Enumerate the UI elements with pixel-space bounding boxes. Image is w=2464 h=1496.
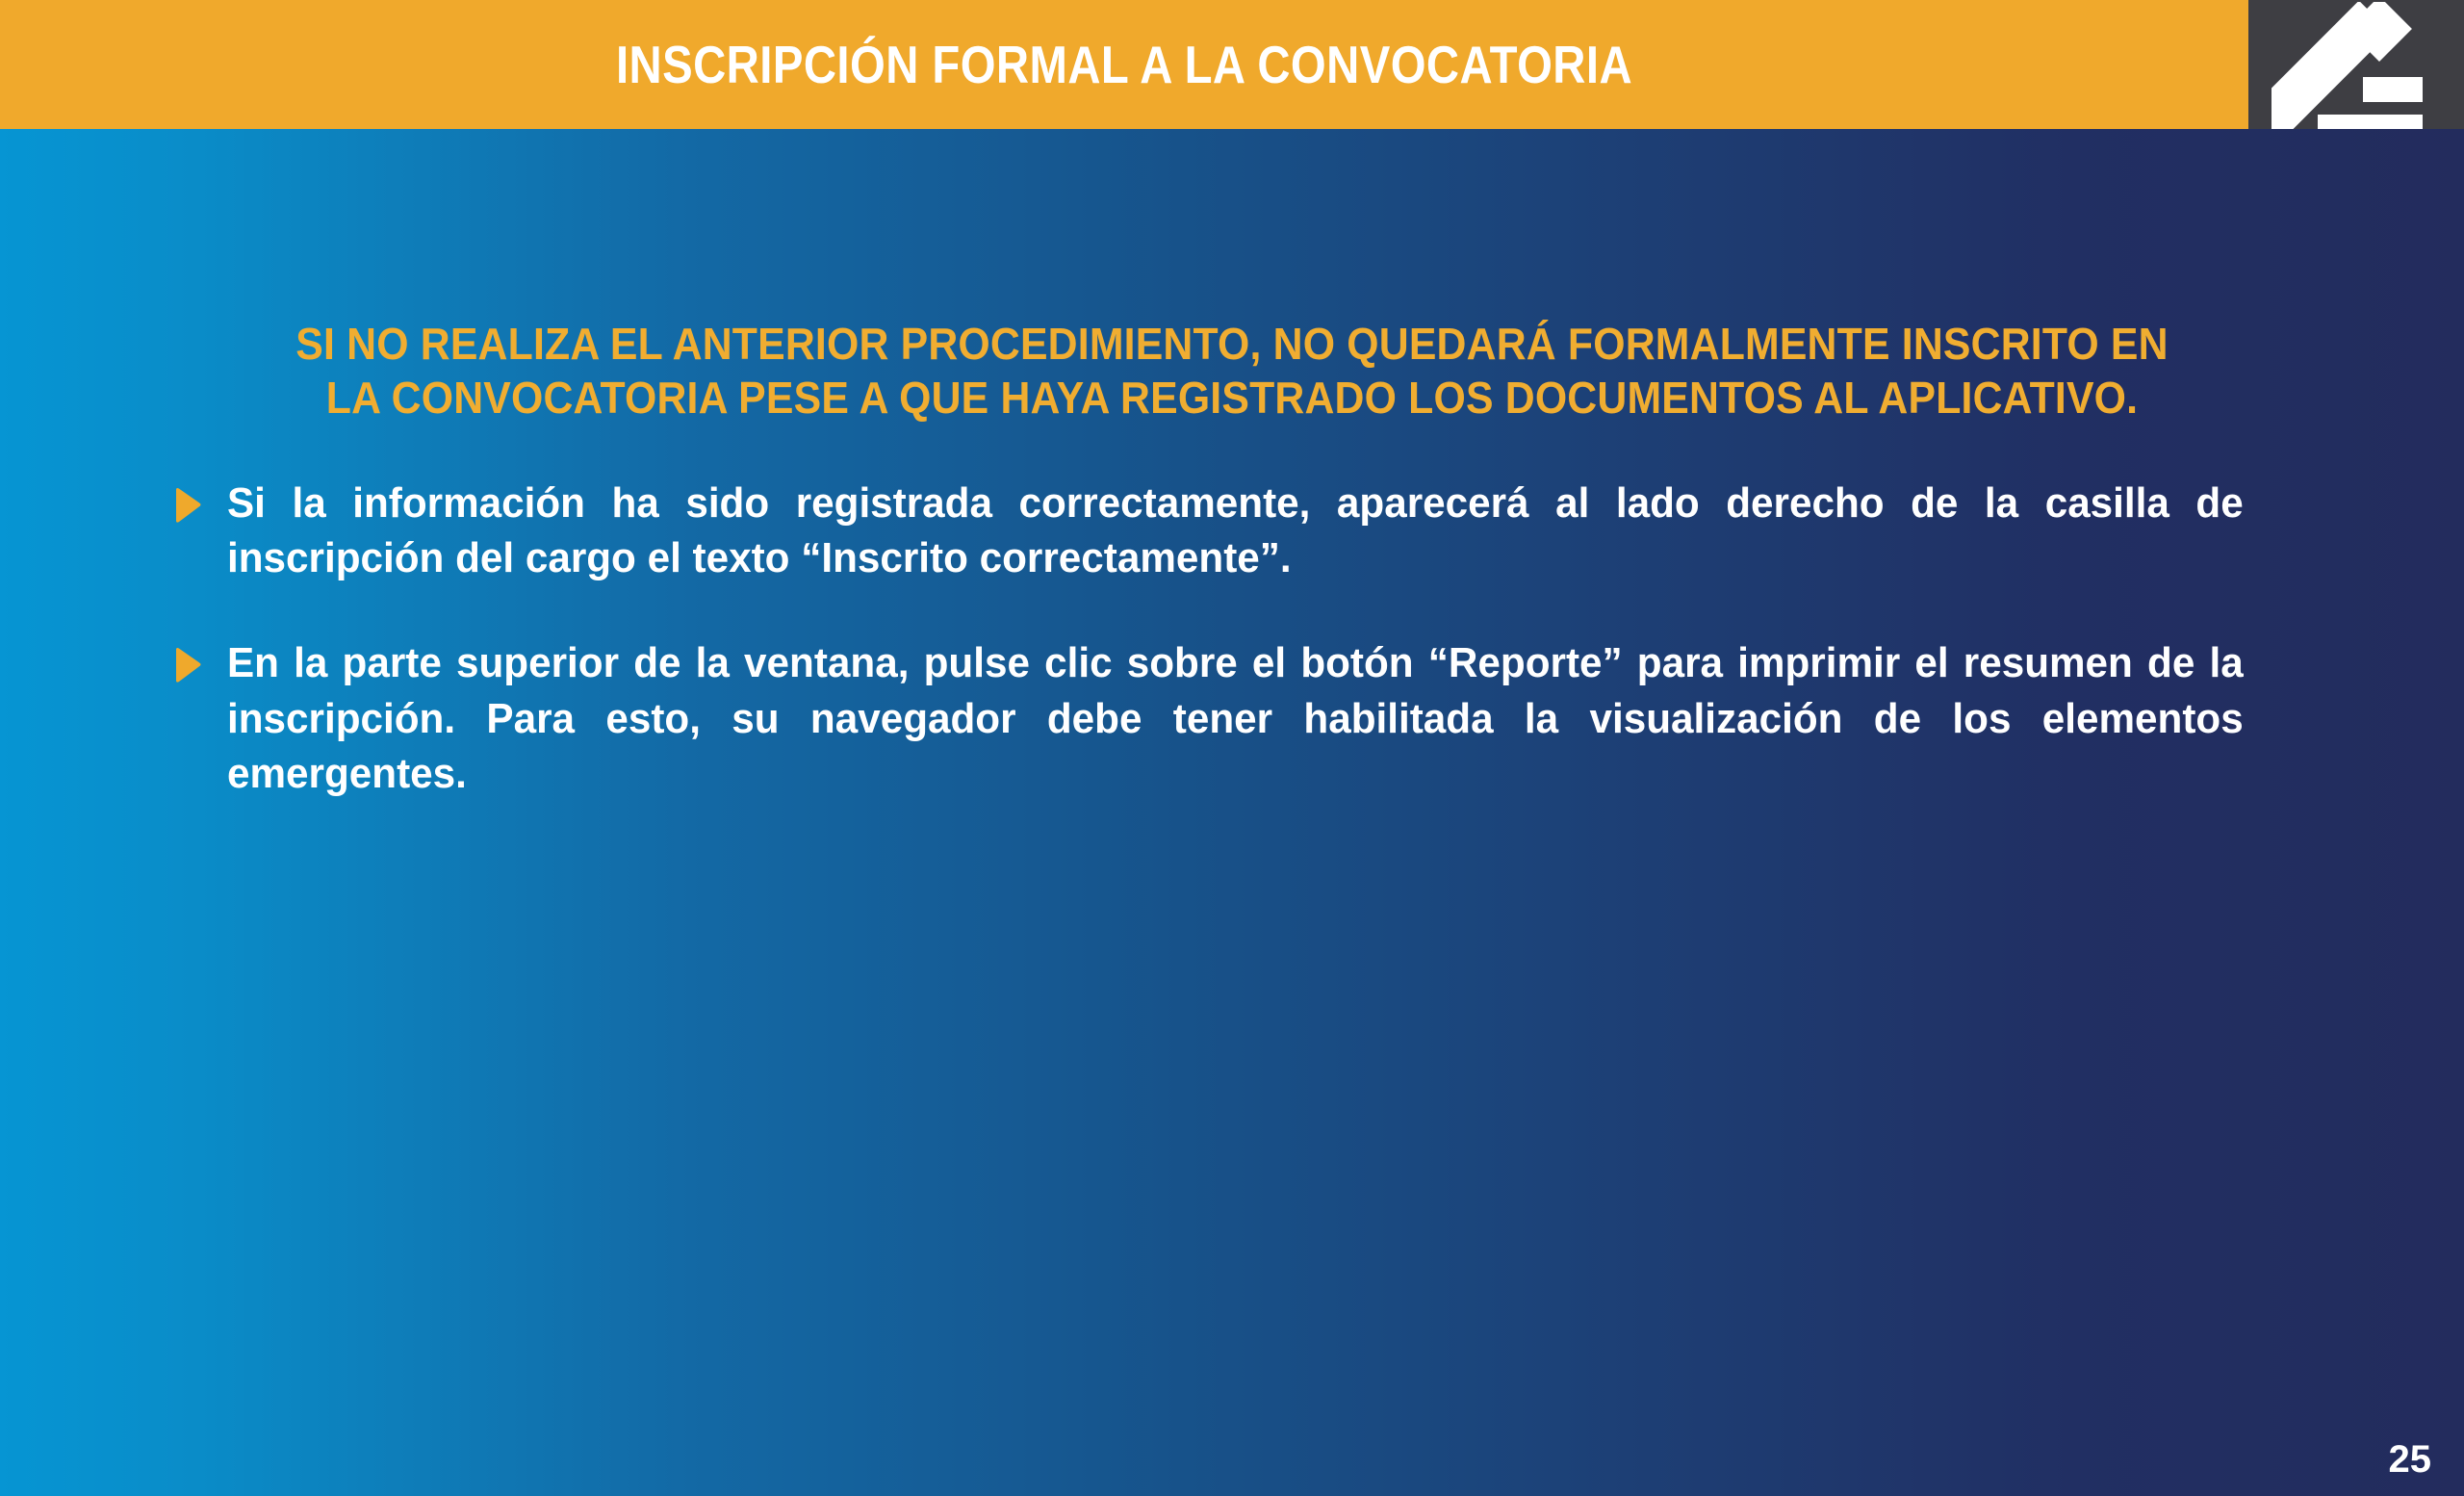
list-item-text: Si la información ha sido registrada cor… — [227, 476, 2244, 585]
triangle-right-icon — [171, 647, 204, 684]
header-bar: INSCRIPCIÓN FORMAL A LA CONVOCATORIA — [0, 0, 2248, 129]
warning-line-2: LA CONVOCATORIA PESE A QUE HAYA REGISTRA… — [293, 371, 2172, 425]
warning-callout: SI NO REALIZA EL ANTERIOR PROCEDIMIENTO,… — [221, 317, 2243, 425]
triangle-right-icon — [171, 487, 204, 524]
page-title: INSCRIPCIÓN FORMAL A LA CONVOCATORIA — [616, 39, 1632, 91]
page-number: 25 — [2389, 1440, 2432, 1479]
list-item: En la parte superior de la ventana, puls… — [171, 635, 2327, 801]
list-item-text: En la parte superior de la ventana, puls… — [227, 635, 2244, 801]
slide-content: SI NO REALIZA EL ANTERIOR PROCEDIMIENTO,… — [0, 129, 2464, 1496]
header-icon-panel — [2248, 0, 2464, 129]
warning-line-1: SI NO REALIZA EL ANTERIOR PROCEDIMIENTO,… — [293, 317, 2172, 371]
list-item: Si la información ha sido registrada cor… — [171, 476, 2327, 585]
slide: INSCRIPCIÓN FORMAL A LA CONVOCATORIA SI … — [0, 0, 2464, 1496]
bullet-list: Si la información ha sido registrada cor… — [171, 476, 2327, 801]
